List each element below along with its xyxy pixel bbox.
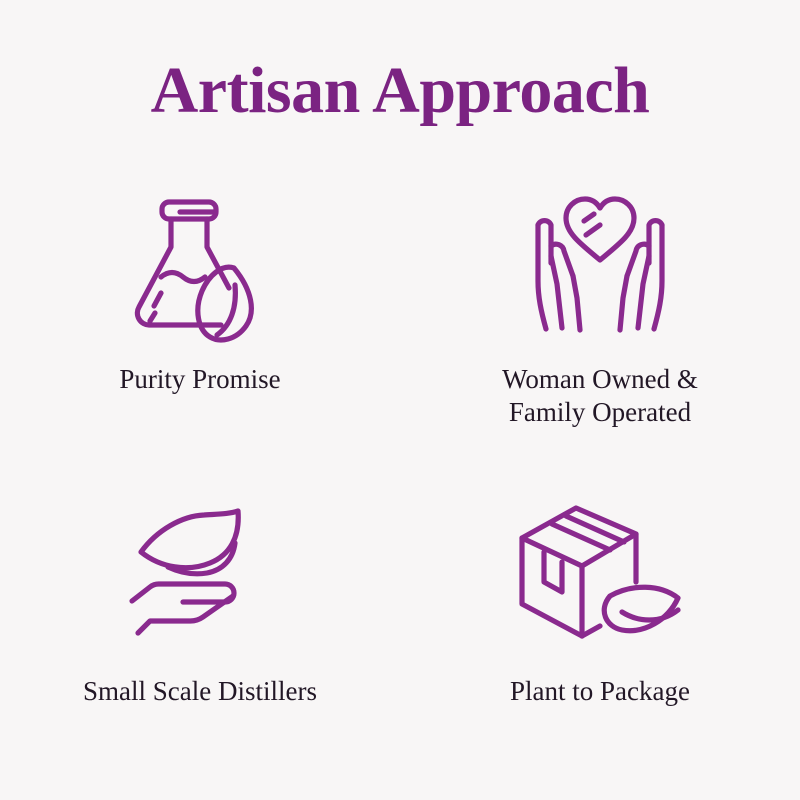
feature-item-small-scale-distillers: Small Scale Distillers — [0, 468, 400, 768]
hands-holding-heart-icon — [515, 182, 685, 347]
feature-grid: Purity Promise — [0, 168, 800, 768]
feature-label: Plant to Package — [510, 675, 690, 708]
feature-item-purity-promise: Purity Promise — [0, 168, 400, 468]
artisan-approach-graphic: Artisan Approach — [0, 0, 800, 800]
flask-leaf-icon — [115, 182, 285, 347]
package-box-leaf-icon — [515, 488, 685, 653]
feature-item-plant-to-package: Plant to Package — [400, 468, 800, 768]
feature-item-woman-owned: Woman Owned & Family Operated — [400, 168, 800, 468]
feature-label: Purity Promise — [119, 363, 280, 396]
feature-label: Small Scale Distillers — [83, 675, 317, 708]
page-title: Artisan Approach — [0, 52, 800, 130]
hand-holding-leaf-icon — [115, 488, 285, 653]
feature-label: Woman Owned & Family Operated — [502, 363, 698, 429]
